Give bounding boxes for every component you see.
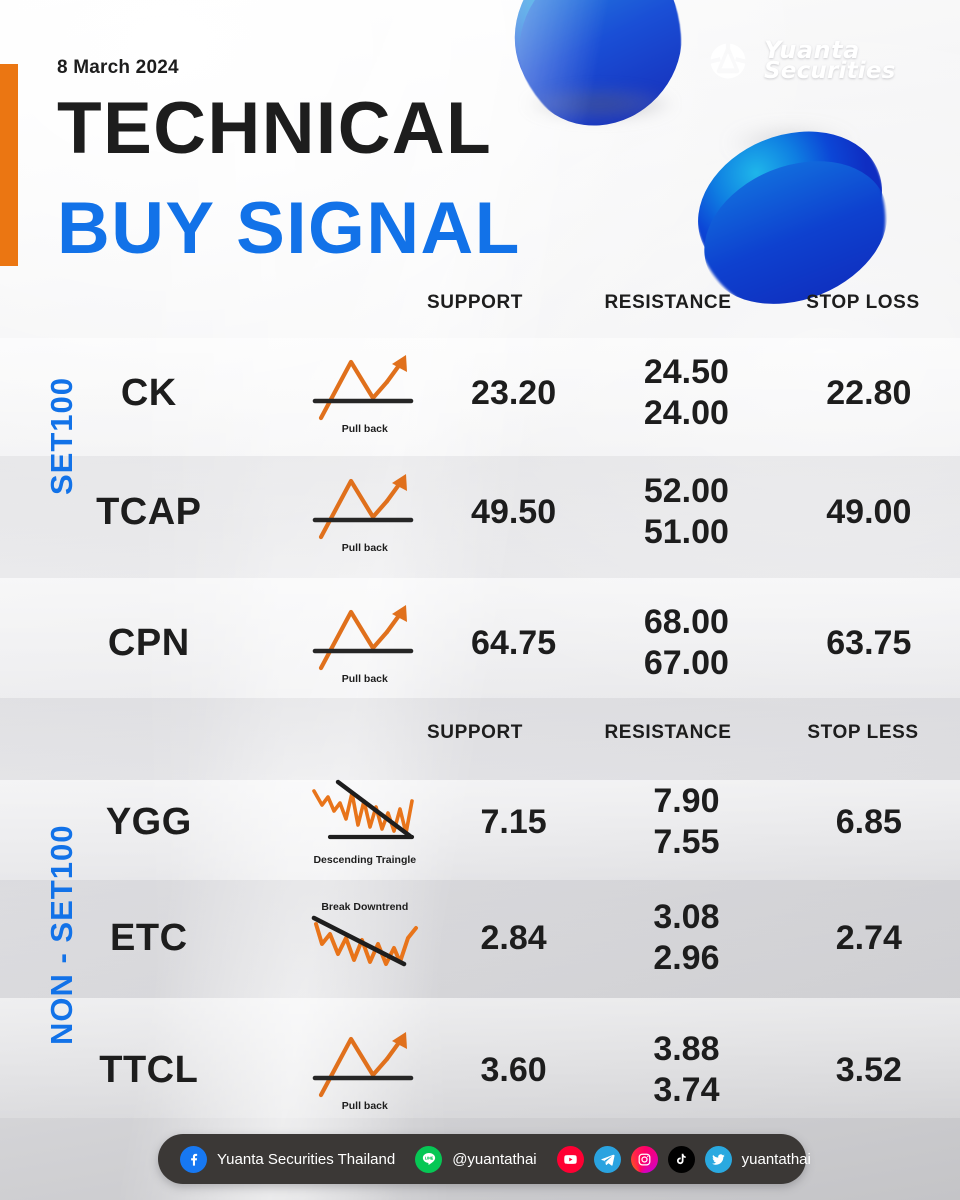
pullback-chart-icon	[311, 1029, 419, 1099]
publication-date: 8 March 2024	[57, 57, 179, 79]
social-footer-bar: Yuanta Securities Thailand @yuantathai y…	[158, 1134, 806, 1184]
row-support-value: 49.50	[432, 493, 595, 532]
column-header-stop-loss: STOP LOSS	[766, 292, 960, 314]
youtube-icon[interactable]	[557, 1146, 584, 1173]
descending-triangle-chart-icon	[306, 779, 424, 853]
row-resistance-cell: 68.00 67.00	[595, 603, 777, 683]
telegram-icon[interactable]	[594, 1146, 621, 1173]
table-row[interactable]: ETC Break Downtrend 2.84 3.08 2.96 2.74	[0, 878, 960, 998]
facebook-label: Yuanta Securities Thailand	[217, 1151, 395, 1168]
row-stop-value: 3.52	[778, 1051, 960, 1090]
column-header-support: SUPPORT	[380, 292, 570, 314]
pattern-label: Pull back	[342, 542, 388, 554]
column-headers-non-set100: SUPPORT RESISTANCE STOP LESS	[380, 722, 960, 744]
page-title-line1: TECHNICAL	[57, 92, 492, 165]
yuanta-circle-star-icon	[705, 38, 751, 84]
row-symbol: ETC	[0, 917, 298, 960]
row-support-value: 23.20	[432, 374, 595, 413]
row-stop-value: 22.80	[778, 374, 960, 413]
pattern-cell: Pull back	[298, 471, 432, 554]
pattern-label: Break Downtrend	[321, 901, 408, 913]
brand-logo: Yuanta Securities	[705, 38, 896, 84]
pullback-chart-icon	[311, 602, 419, 672]
table-row[interactable]: YGG Descending Traingle 7.15 7.90 7.55 6…	[0, 762, 960, 882]
coin-shadow-decoration	[500, 82, 700, 126]
row-resistance-value-1: 3.88	[595, 1030, 777, 1069]
row-resistance-value-2: 3.74	[595, 1071, 777, 1110]
row-stop-value: 49.00	[778, 493, 960, 532]
column-header-stop-less: STOP LESS	[766, 722, 960, 744]
row-resistance-value-2: 67.00	[595, 644, 777, 683]
table-row[interactable]: TTCL Pull back 3.60 3.88 3.74 3.52	[0, 1010, 960, 1130]
pattern-label: Pull back	[342, 673, 388, 685]
table-row[interactable]: TCAP Pull back 49.50 52.00 51.00 49.00	[0, 452, 960, 572]
twitter-handle: yuantathai	[742, 1151, 811, 1168]
row-symbol: CK	[0, 372, 298, 415]
pullback-chart-icon	[311, 471, 419, 541]
table-row[interactable]: CK Pull back 23.20 24.50 24.00 22.80	[0, 333, 960, 453]
pattern-label: Pull back	[342, 1100, 388, 1112]
row-resistance-cell: 7.90 7.55	[595, 782, 777, 862]
row-stop-value: 63.75	[778, 624, 960, 663]
poster-root: 8 March 2024 TECHNICAL BUY SIGNAL Yuanta…	[0, 0, 960, 1200]
table-row[interactable]: CPN Pull back 64.75 68.00 67.00 63.75	[0, 583, 960, 703]
row-resistance-cell: 52.00 51.00	[595, 472, 777, 552]
row-resistance-value-1: 68.00	[595, 603, 777, 642]
row-stop-value: 2.74	[778, 919, 960, 958]
row-support-value: 3.60	[432, 1051, 595, 1090]
pattern-cell: Pull back	[298, 352, 432, 435]
instagram-icon[interactable]	[631, 1146, 658, 1173]
row-resistance-value-1: 7.90	[595, 782, 777, 821]
orange-accent-bar	[0, 64, 18, 266]
brand-name-line2: Securities	[764, 61, 896, 83]
column-header-resistance: RESISTANCE	[570, 722, 766, 744]
row-symbol: CPN	[0, 622, 298, 665]
brand-name: Yuanta Securities	[764, 39, 896, 84]
tiktok-icon[interactable]	[668, 1146, 695, 1173]
pattern-cell: Pull back	[298, 1029, 432, 1112]
row-resistance-value-2: 7.55	[595, 823, 777, 862]
row-symbol: TTCL	[0, 1049, 298, 1092]
line-icon[interactable]	[415, 1146, 442, 1173]
row-support-value: 64.75	[432, 624, 595, 663]
column-header-resistance: RESISTANCE	[570, 292, 766, 314]
row-support-value: 7.15	[432, 803, 595, 842]
facebook-icon[interactable]	[180, 1146, 207, 1173]
pattern-cell: Break Downtrend	[298, 901, 432, 976]
row-resistance-cell: 3.88 3.74	[595, 1030, 777, 1110]
pattern-cell: Pull back	[298, 602, 432, 685]
row-stop-value: 6.85	[778, 803, 960, 842]
row-symbol: YGG	[0, 801, 298, 844]
row-resistance-cell: 24.50 24.00	[595, 353, 777, 433]
break-downtrend-chart-icon	[304, 914, 426, 976]
row-resistance-value-1: 52.00	[595, 472, 777, 511]
row-resistance-value-2: 24.00	[595, 394, 777, 433]
column-headers-set100: SUPPORT RESISTANCE STOP LOSS	[380, 292, 960, 314]
column-header-support: SUPPORT	[380, 722, 570, 744]
row-resistance-cell: 3.08 2.96	[595, 898, 777, 978]
pullback-chart-icon	[311, 352, 419, 422]
line-label: @yuantathai	[452, 1151, 536, 1168]
page-title-line2: BUY SIGNAL	[57, 192, 521, 265]
row-resistance-value-1: 3.08	[595, 898, 777, 937]
row-resistance-value-2: 2.96	[595, 939, 777, 978]
pattern-cell: Descending Traingle	[298, 779, 432, 866]
row-resistance-value-1: 24.50	[595, 353, 777, 392]
twitter-icon[interactable]	[705, 1146, 732, 1173]
pattern-label: Pull back	[342, 423, 388, 435]
pattern-label: Descending Traingle	[313, 854, 416, 866]
row-support-value: 2.84	[432, 919, 595, 958]
row-resistance-value-2: 51.00	[595, 513, 777, 552]
row-symbol: TCAP	[0, 491, 298, 534]
